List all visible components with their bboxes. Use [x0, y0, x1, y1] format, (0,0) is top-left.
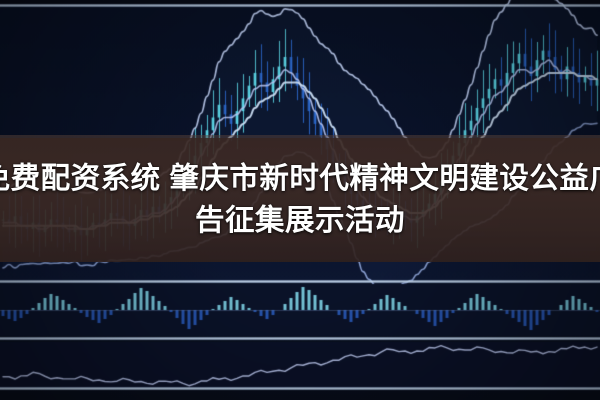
title-block: 免费配资系统 肇庆市新时代精神文明建设公益广 告征集展示活动 [0, 138, 600, 262]
title-line-1: 免费配资系统 肇庆市新时代精神文明建设公益广 [0, 160, 600, 198]
title-line-2: 告征集展示活动 [195, 202, 405, 240]
promo-banner: 免费配资系统 肇庆市新时代精神文明建设公益广 告征集展示活动 [0, 0, 600, 400]
